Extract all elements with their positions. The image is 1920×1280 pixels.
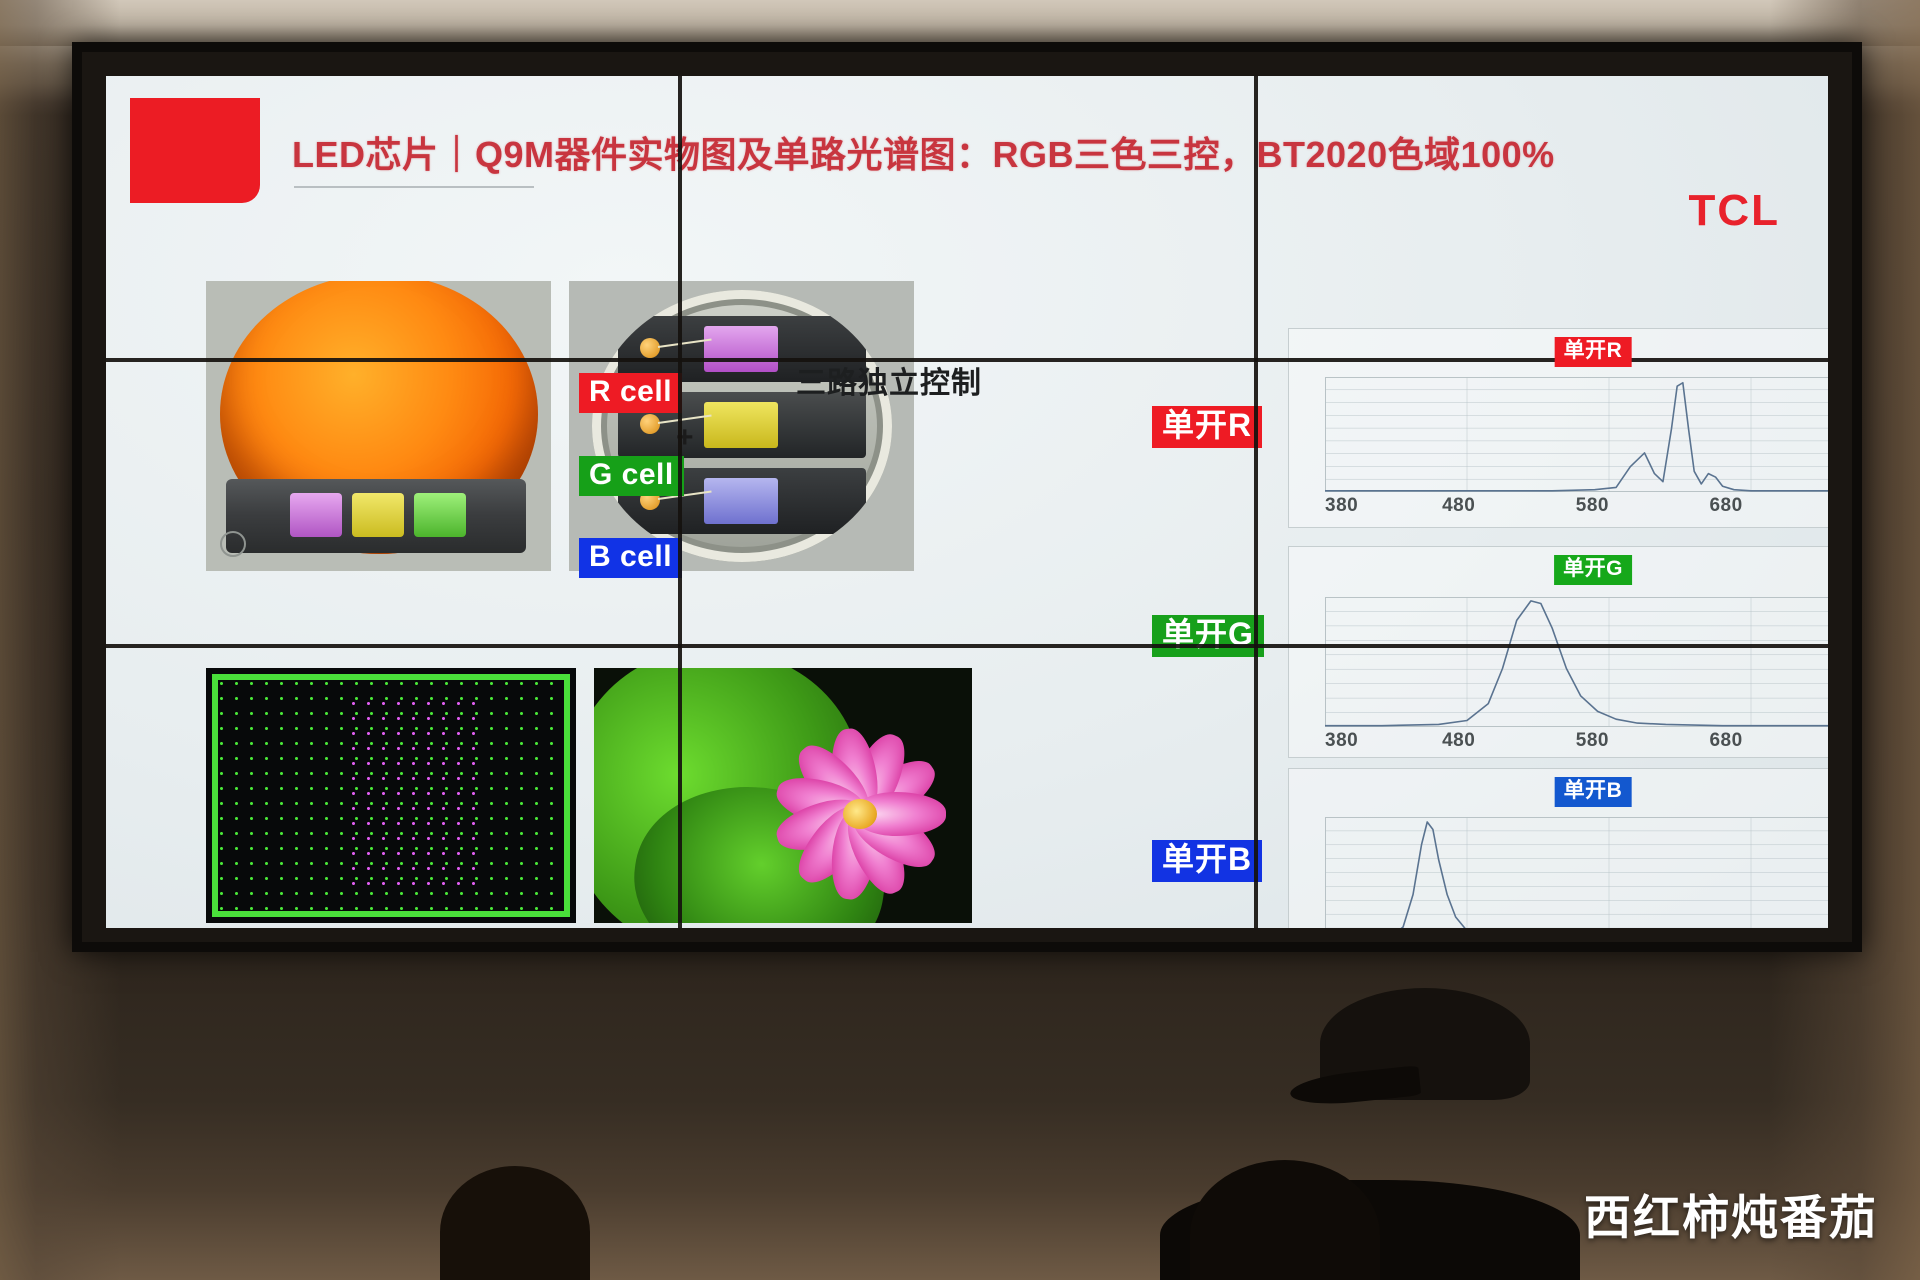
flower-core [843, 799, 877, 829]
photo-watermark: 西红柿炖番茄 [1584, 1179, 1878, 1248]
conference-room-photo: LED芯片｜Q9M器件实物图及单路光谱图：RGB三色三控，BT2020色域100… [0, 0, 1920, 1280]
spectrum-path [1325, 822, 1828, 928]
lotus-flower [762, 724, 958, 904]
bond-pad [640, 414, 660, 434]
tick-label: 680 [1709, 730, 1742, 752]
g-die [352, 493, 404, 537]
spectrum-chart-single-b: 单开B 380480580680780 [1288, 768, 1828, 928]
bond-pad [640, 338, 660, 358]
tick-label: 480 [1442, 495, 1475, 517]
spectrum-chart-single-g: 单开G 380480580680780 [1288, 546, 1828, 758]
panel-edge [564, 674, 570, 917]
tick-label: 480 [1442, 730, 1475, 752]
photo-led-panel-matrix [206, 668, 576, 923]
video-wall-seam-horizontal [106, 644, 1828, 648]
photo-lotus-demo-image [594, 668, 972, 923]
r-chip [704, 326, 778, 372]
package-cavity [592, 290, 892, 562]
chip-substrate [226, 479, 526, 553]
panel-edge [212, 911, 570, 917]
label-b-cell: B cell [579, 538, 682, 578]
package-polarity-mark [220, 531, 246, 557]
chart-badge-single-g: 单开G [1554, 555, 1632, 585]
wall-upper-band [0, 0, 1920, 46]
photo-led-open-package [569, 281, 914, 571]
tick-label: 580 [1576, 730, 1609, 752]
led-dot-matrix-magenta [346, 696, 476, 886]
title-underline [294, 186, 534, 188]
label-g-cell: G cell [579, 456, 684, 496]
spectrum-path [1325, 383, 1828, 491]
spectrum-path [1325, 601, 1828, 726]
chart-badge-single-r: 单开R [1555, 337, 1632, 367]
audience-cap-brim [1289, 1065, 1421, 1108]
row-label-single-b: 单开B [1152, 840, 1262, 882]
tick-label: 680 [1709, 495, 1742, 517]
video-wall-bezel: LED芯片｜Q9M器件实物图及单路光谱图：RGB三色三控，BT2020色域100… [72, 42, 1862, 952]
spectrum-curve-single-r [1325, 377, 1828, 492]
plot-area-single-g [1325, 597, 1828, 727]
spectrum-curve-single-g [1325, 597, 1828, 727]
plot-area-single-b [1325, 817, 1828, 928]
panel-edge [212, 674, 218, 917]
audience-head [440, 1166, 590, 1280]
slide-title: LED芯片｜Q9M器件实物图及单路光谱图：RGB三色三控，BT2020色域100… [292, 126, 1712, 178]
tick-label: 380 [1325, 730, 1358, 752]
plot-area-single-r [1325, 377, 1828, 492]
g-chip [704, 402, 778, 448]
video-wall-seam-vertical [678, 76, 682, 928]
video-wall-display: LED芯片｜Q9M器件实物图及单路光谱图：RGB三色三控，BT2020色域100… [106, 76, 1828, 928]
photo-led-dome-package [206, 281, 551, 571]
tick-label: 380 [1325, 495, 1358, 517]
video-wall-seam-vertical [1254, 76, 1258, 928]
three-channel-control-label: 三路独立控制 [796, 358, 982, 402]
presentation-slide: LED芯片｜Q9M器件实物图及单路光谱图：RGB三色三控，BT2020色域100… [106, 76, 1828, 928]
tick-label: 580 [1576, 495, 1609, 517]
r-die [290, 493, 342, 537]
row-label-single-g: 单开G [1152, 615, 1264, 657]
panel-edge [212, 674, 570, 680]
x-axis-ticks-single-r: 380480580680780 [1325, 495, 1828, 517]
label-r-cell: R cell [579, 373, 682, 413]
b-die [414, 493, 466, 537]
x-axis-ticks-single-g: 380480580680780 [1325, 730, 1828, 752]
spectrum-curve-single-b [1325, 817, 1828, 928]
b-chip [704, 478, 778, 524]
slide-accent-block [130, 98, 260, 203]
chart-badge-single-b: 单开B [1555, 777, 1632, 807]
tcl-logo: TCL [1688, 186, 1780, 236]
row-label-single-r: 单开R [1152, 406, 1262, 448]
audience-head [1190, 1160, 1380, 1280]
